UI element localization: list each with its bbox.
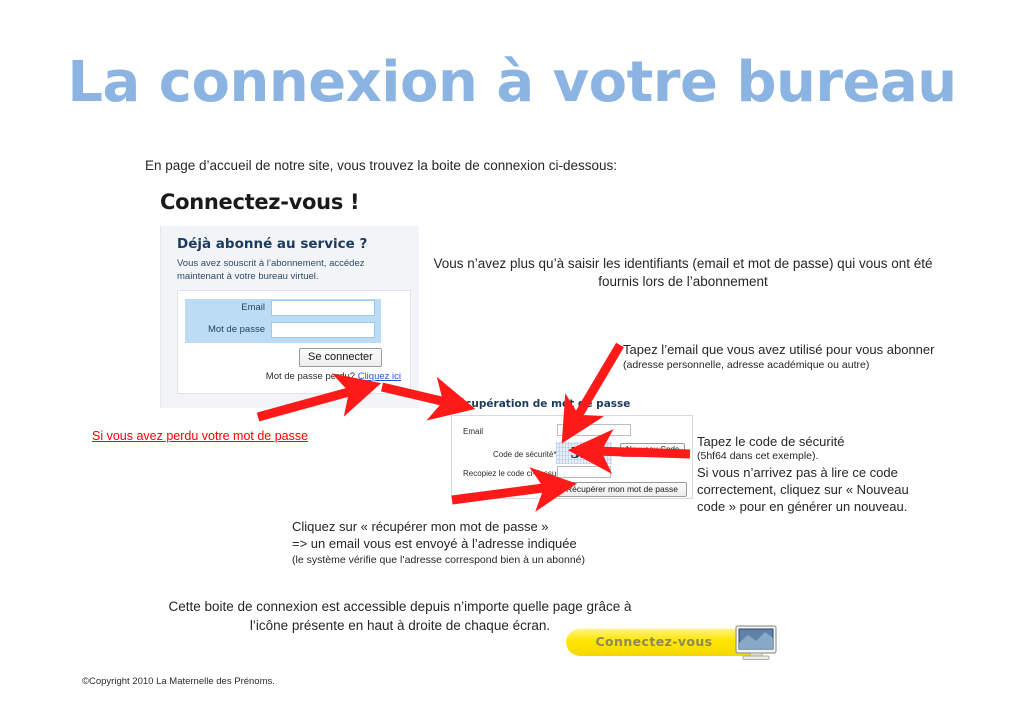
- login-form: Email Mot de passe Se connecter Mot de p…: [177, 290, 411, 394]
- page-title: La connexion à votre bureau: [0, 52, 1024, 114]
- login-panel-subtext: Vous avez souscrit à l’abonnement, accéd…: [177, 258, 392, 284]
- annotation-identifiants: Vous n’avez plus qu’à saisir les identif…: [418, 255, 948, 291]
- annotation-email-small: (adresse personnelle, adresse académique…: [623, 359, 953, 373]
- annotation-security-main-1: Tapez le code de sécurité: [697, 434, 844, 449]
- annotation-email: Tapez l’email que vous avez utilisé pour…: [623, 342, 953, 373]
- se-connecter-button[interactable]: Se connecter: [299, 348, 382, 367]
- annotation-email-main: Tapez l’email que vous avez utilisé pour…: [623, 342, 934, 357]
- captcha-text: 5hf 64: [558, 444, 610, 464]
- annotation-security-code: Tapez le code de sécurité (5hf64 dans ce…: [697, 433, 932, 515]
- connectez-vous-button-image: Connectez-vous: [566, 624, 782, 664]
- copyright-notice: ©Copyright 2010 La Maternelle des Prénom…: [82, 676, 275, 687]
- login-box-screenshot: Connectez-vous ! Déjà abonné au service …: [156, 188, 422, 410]
- annotation-recover-line-2: => un email vous est envoyé à l’adresse …: [292, 536, 577, 551]
- forgot-password-line: Mot de passe perdu? Cliquez ici: [266, 371, 401, 382]
- login-panel-heading: Déjà abonné au service ?: [177, 236, 367, 252]
- copy-code-label: Recopiez le code ci-dessus: [463, 469, 560, 478]
- monitor-icon: [732, 624, 780, 662]
- recovery-email-label: Email: [463, 427, 483, 436]
- security-code-label: Code de sécurité*: [493, 450, 557, 459]
- annotation-recover-small: (le système vérifie que l’adresse corres…: [292, 553, 622, 567]
- recuperer-mot-de-passe-button[interactable]: Récupérer mon mot de passe: [557, 482, 687, 497]
- nouveau-code-button[interactable]: Nouveau Code: [620, 443, 685, 457]
- forgot-password-label: Mot de passe perdu?: [266, 371, 355, 382]
- recovery-heading: Récupération de mot de passe: [450, 398, 630, 410]
- password-input[interactable]: [271, 322, 375, 338]
- login-panel: Déjà abonné au service ? Vous avez sousc…: [160, 226, 419, 408]
- connectez-vous-button-label: Connectez-vous: [566, 634, 742, 649]
- captcha-image: 5hf 64: [556, 442, 612, 464]
- email-label: Email: [185, 302, 265, 313]
- intro-text: En page d’accueil de notre site, vous tr…: [145, 158, 905, 173]
- email-row: Email: [185, 299, 381, 321]
- annotation-recover-password: Cliquez sur « récupérer mon mot de passe…: [292, 518, 622, 567]
- annotation-security-small: (5hf64 dans cet exemple).: [697, 450, 932, 464]
- password-row: Mot de passe: [185, 321, 381, 343]
- recovery-email-input[interactable]: [557, 424, 631, 436]
- credentials-grid: Email Mot de passe: [185, 299, 381, 343]
- email-input[interactable]: [271, 300, 375, 316]
- connectez-vous-heading: Connectez-vous !: [160, 190, 359, 214]
- annotation-lost-password: Si vous avez perdu votre mot de passe: [92, 429, 308, 443]
- copy-code-input[interactable]: [557, 466, 611, 478]
- forgot-password-link[interactable]: Cliquez ici: [358, 371, 401, 382]
- annotation-recover-line-1: Cliquez sur « récupérer mon mot de passe…: [292, 519, 549, 534]
- password-label: Mot de passe: [185, 324, 265, 335]
- password-recovery-screenshot: Récupération de mot de passe Email Code …: [450, 398, 698, 502]
- recovery-form: Email Code de sécurité* 5hf 64 Nouveau C…: [451, 415, 693, 499]
- annotation-security-main-2: Si vous n’arrivez pas à lire ce code cor…: [697, 465, 909, 514]
